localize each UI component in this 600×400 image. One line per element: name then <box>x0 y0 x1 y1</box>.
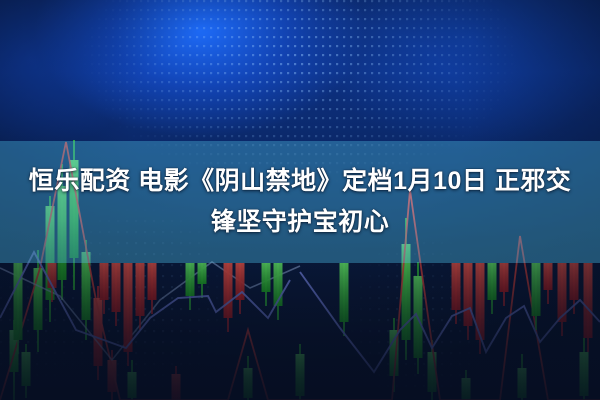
headline-block: 恒乐配资 电影《阴山禁地》定档1月10日 正邪交 锋坚守护宝初心 <box>0 141 600 263</box>
headline-line-1: 恒乐配资 电影《阴山禁地》定档1月10日 正邪交 <box>29 161 572 202</box>
banner-stage: 恒乐配资 电影《阴山禁地》定档1月10日 正邪交 锋坚守护宝初心 <box>0 0 600 400</box>
headline-line-2: 锋坚守护宝初心 <box>211 202 390 243</box>
